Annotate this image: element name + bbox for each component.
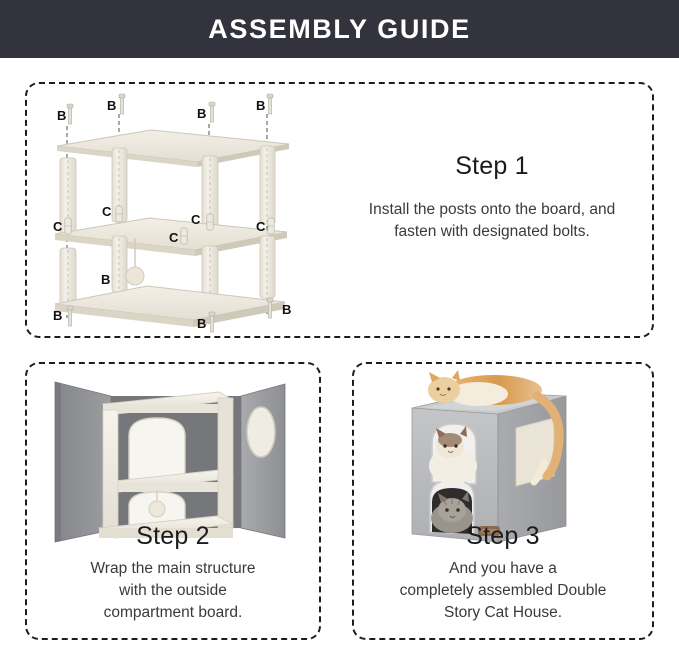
step-panel-2: Step 2 Wrap the main structure with the … <box>25 362 321 640</box>
part-label-B: B <box>282 302 291 317</box>
step3-description-line: completely assembled Double <box>364 580 642 602</box>
step1-text-block: Step 1 Install the posts onto the board,… <box>327 152 657 243</box>
front-left-post <box>103 410 118 534</box>
left-wrap-panel <box>55 382 111 542</box>
step3-description: And you have a completely assembled Doub… <box>364 558 642 624</box>
right-panel-porthole <box>247 407 275 457</box>
step1-figure: B B B B C C C C C B B B B <box>39 90 309 334</box>
step2-figure <box>33 370 317 546</box>
step-panel-3: Step 3 And you have a completely assembl… <box>352 362 654 640</box>
cat-tree-with-wrap-panels-photo <box>33 370 317 546</box>
step-panel-1: B B B B C C C C C B B B B Step 1 Install… <box>25 82 654 338</box>
part-label-C: C <box>169 230 179 245</box>
step3-text-block: Step 3 And you have a completely assembl… <box>354 522 652 624</box>
step1-description: Install the posts onto the board, and fa… <box>327 199 657 243</box>
part-label-C: C <box>256 219 266 234</box>
step1-description-line: Install the posts onto the board, and <box>327 199 657 221</box>
part-label-C: C <box>53 219 63 234</box>
part-label-B: B <box>197 316 206 331</box>
part-label-B: B <box>57 108 66 123</box>
step1-title: Step 1 <box>327 152 657 181</box>
part-label-B: B <box>197 106 206 121</box>
top-board <box>57 130 289 167</box>
step3-title: Step 3 <box>364 522 642 551</box>
part-label-B: B <box>101 272 110 287</box>
part-label-B: B <box>107 98 116 113</box>
part-label-B: B <box>53 308 62 323</box>
step2-description-line: Wrap the main structure <box>37 558 309 580</box>
page-title: ASSEMBLY GUIDE <box>208 14 470 45</box>
header-bar: ASSEMBLY GUIDE <box>0 0 679 58</box>
step2-description-line: with the outside <box>37 580 309 602</box>
front-right-post <box>218 398 233 528</box>
step2-description-line: compartment board. <box>37 602 309 624</box>
step3-description-line: Story Cat House. <box>364 602 642 624</box>
bottom-board <box>55 286 285 327</box>
step2-description: Wrap the main structure with the outside… <box>37 558 309 624</box>
part-label-C: C <box>102 204 112 219</box>
step1-description-line: fasten with designated bolts. <box>327 221 657 243</box>
right-wrap-panel <box>241 384 285 538</box>
exploded-cat-tree-frame-diagram: B B B B C C C C C B B B B <box>39 90 309 334</box>
part-label-B: B <box>256 98 265 113</box>
step2-text-block: Step 2 Wrap the main structure with the … <box>27 522 319 624</box>
toy-ball <box>149 501 165 517</box>
step2-title: Step 2 <box>37 522 309 551</box>
cat-ear-right <box>452 370 460 381</box>
part-label-C: C <box>191 212 201 227</box>
step3-description-line: And you have a <box>364 558 642 580</box>
